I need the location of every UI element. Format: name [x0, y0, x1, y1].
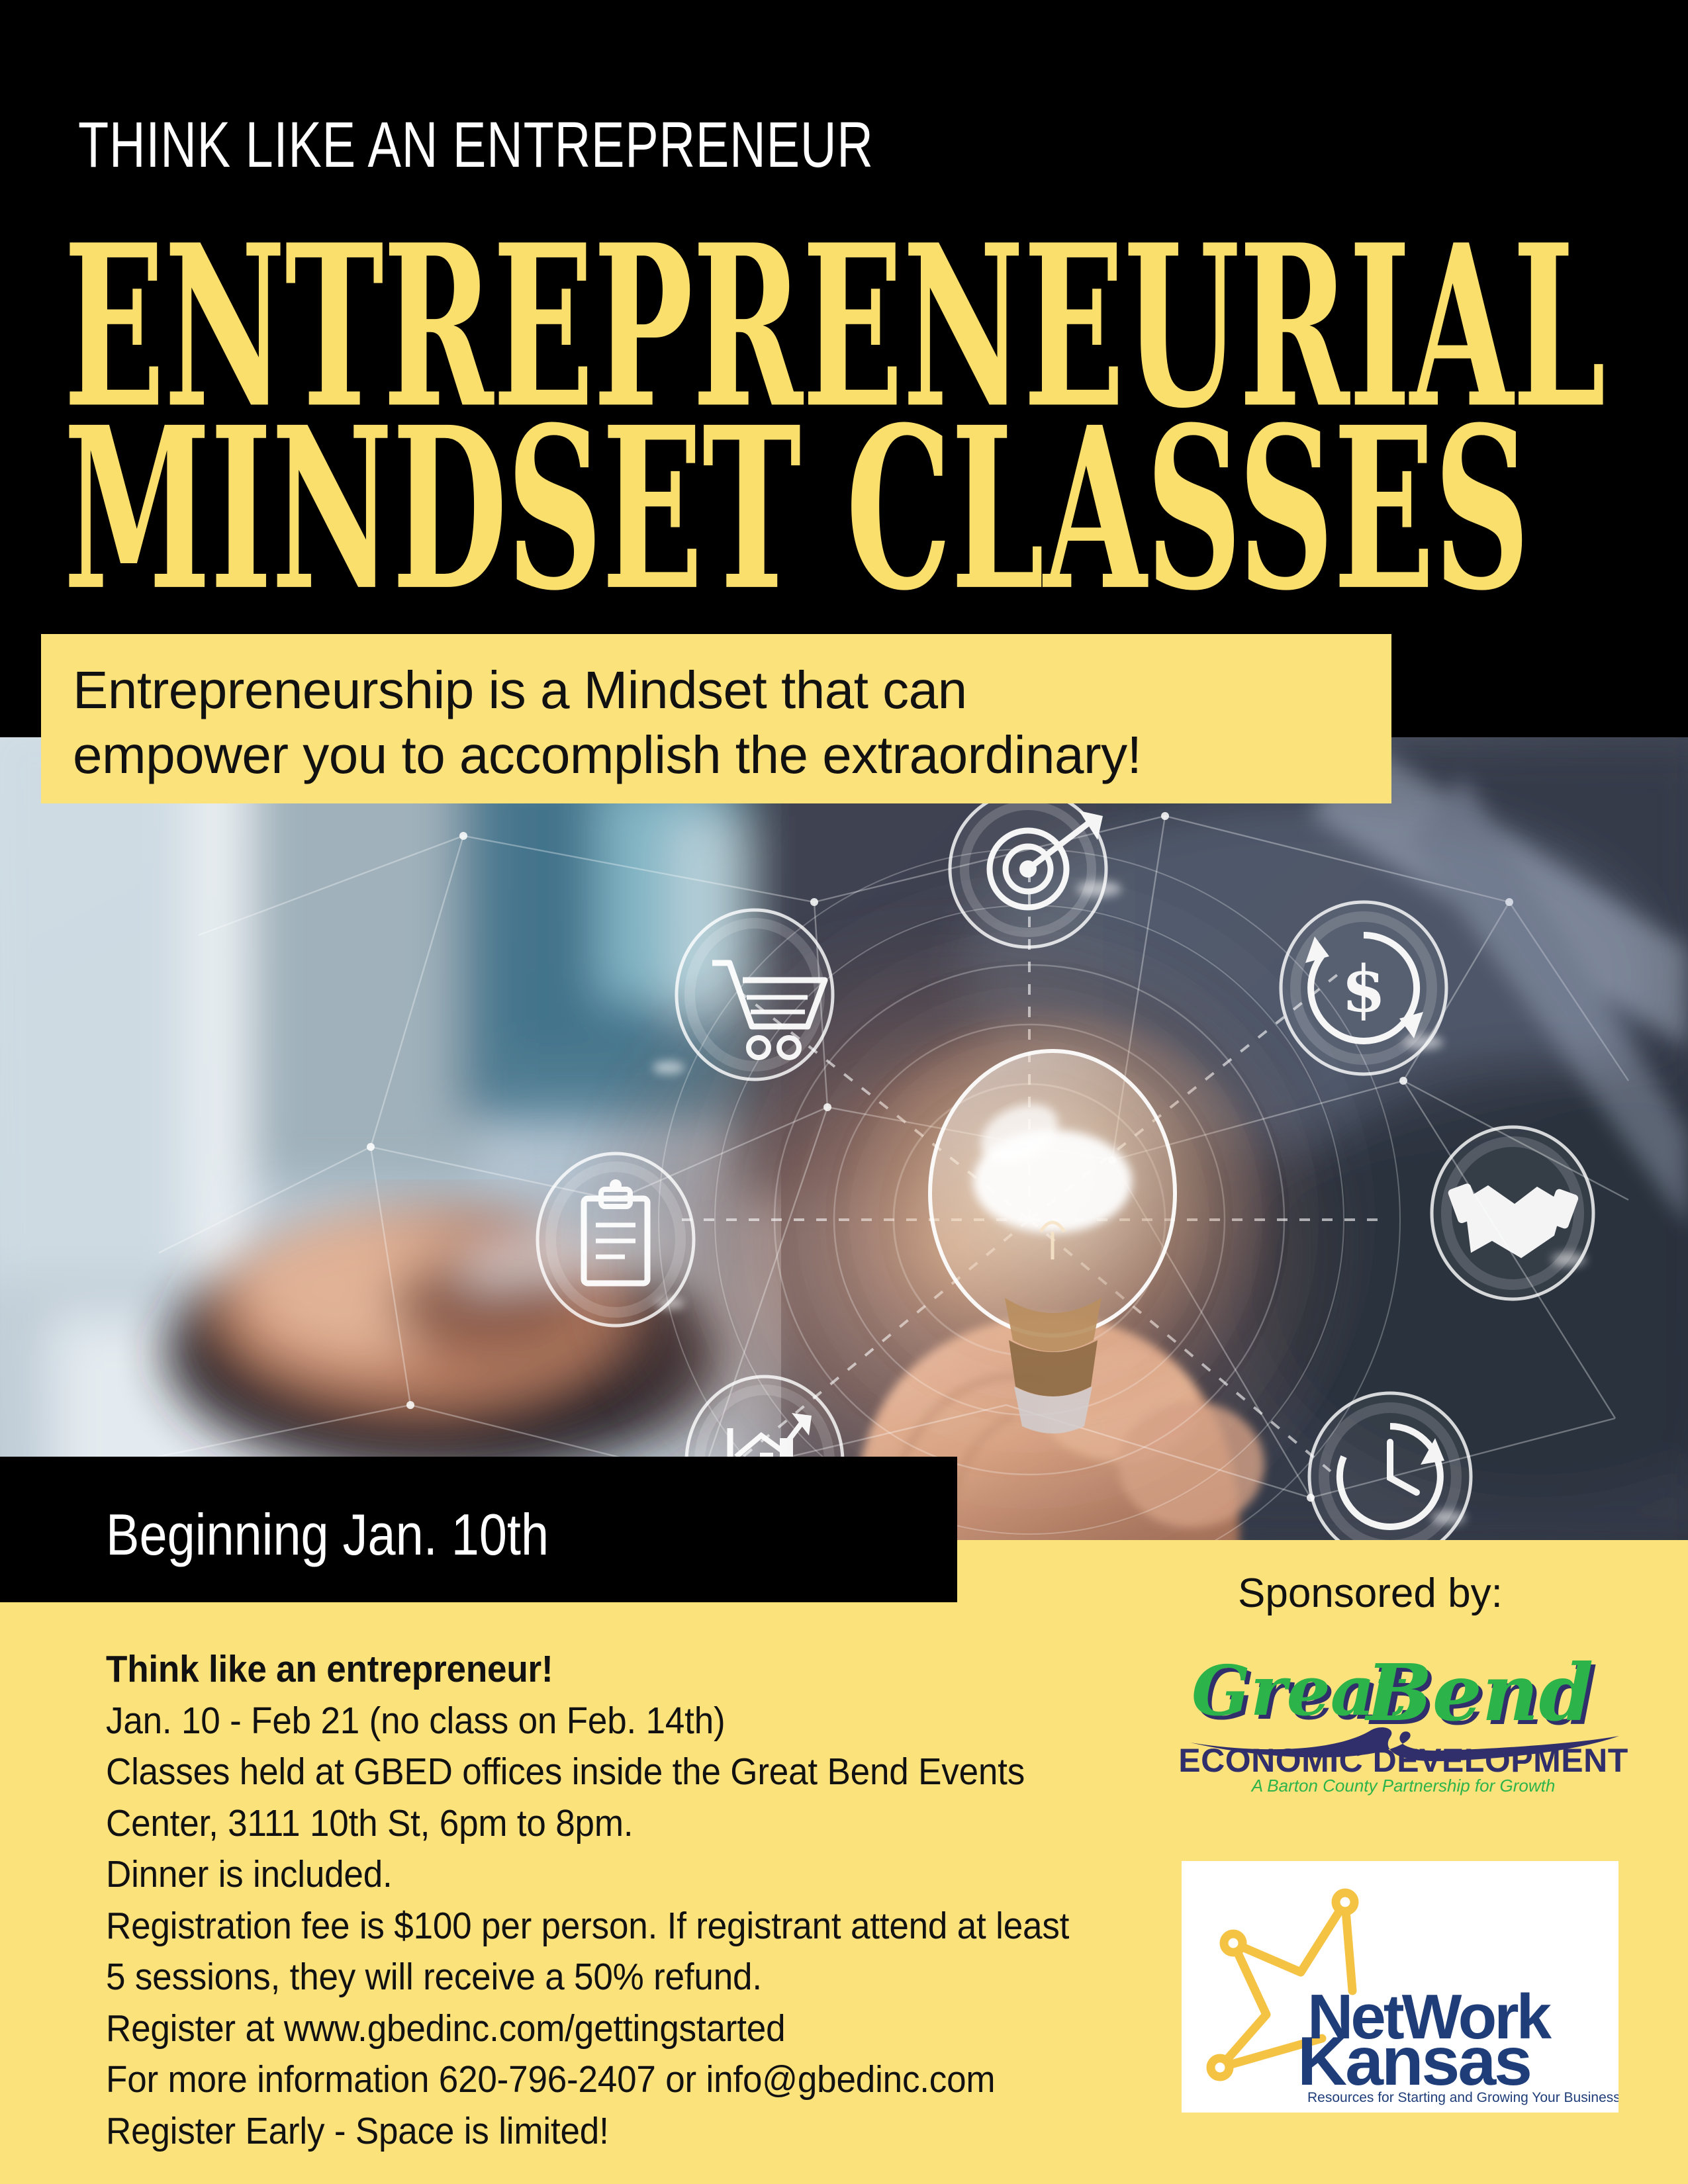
title-line-2: MINDSET CLASSES [64, 418, 1605, 601]
poster-root: $ [0, 0, 1688, 2184]
registration-url-line[interactable]: Register at www.gbedinc.com/gettingstart… [106, 2003, 900, 2055]
subtitle-line-2: empower you to accomplish the extraordin… [73, 723, 1391, 788]
hero-photo: $ [0, 737, 1688, 1557]
start-date-text: Beginning Jan. 10th [106, 1501, 549, 1569]
sponsored-by-heading: Sponsored by: [1238, 1570, 1503, 1617]
details-line: Think like an entrepreneur! [106, 1644, 900, 1696]
details-line: Center, 3111 10th St, 6pm to 8pm. [106, 1798, 900, 1850]
subtitle-line-1: Entrepreneurship is a Mindset that can [73, 658, 1391, 723]
subtitle-banner: Entrepreneurship is a Mindset that can e… [41, 634, 1391, 803]
page-title: ENTREPRENEURIAL MINDSET CLASSES [64, 236, 1605, 600]
shopping-cart-icon [677, 910, 833, 1079]
svg-text:Kansas: Kansas [1297, 2023, 1530, 2100]
svg-text:Resources for Starting and Gro: Resources for Starting and Growing Your … [1307, 2090, 1618, 2105]
clock-rotate-icon [1309, 1393, 1471, 1557]
target-icon [949, 791, 1107, 947]
details-text-block: Think like an entrepreneur! Jan. 10 - Fe… [106, 1644, 960, 2157]
svg-text:$: $ [1342, 952, 1386, 1026]
details-line: Registration fee is $100 per person. If … [106, 1901, 900, 1952]
details-line: Dinner is included. [106, 1849, 900, 1901]
svg-text:Bend: Bend [1364, 1647, 1593, 1739]
details-line: Register Early - Space is limited! [106, 2106, 900, 2158]
handshake-icon [1432, 1127, 1593, 1299]
contact-line[interactable]: For more information 620-796-2407 or inf… [106, 2054, 900, 2106]
svg-text:A Barton County Partnership fo: A Barton County Partnership for Growth [1250, 1776, 1556, 1796]
network-kansas-logo: NetWork Kansas Resources for Starting an… [1182, 1861, 1618, 2113]
gbed-logo: Great Great Bend Bend ECONOMIC DEVELOPME… [1172, 1631, 1635, 1797]
details-line: Jan. 10 - Feb 21 (no class on Feb. 14th) [106, 1696, 900, 1747]
svg-text:ECONOMIC DEVELOPMENT: ECONOMIC DEVELOPMENT [1178, 1742, 1628, 1779]
details-line: 5 sessions, they will receive a 50% refu… [106, 1952, 900, 2003]
details-line: Classes held at GBED offices inside the … [106, 1747, 900, 1798]
eyebrow-text: THINK LIKE AN ENTREPRENEUR [78, 111, 874, 179]
